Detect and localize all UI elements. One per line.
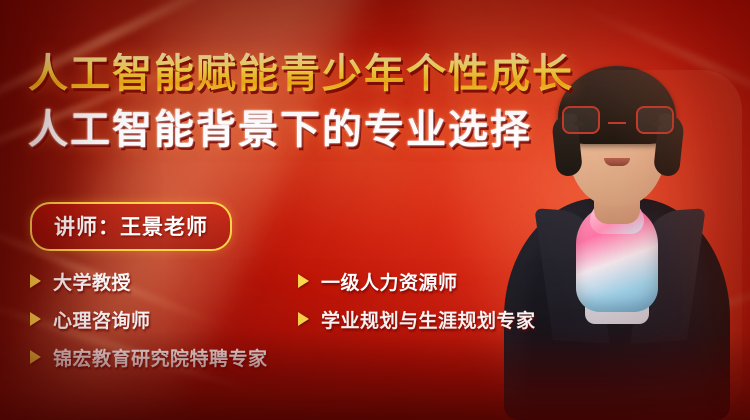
triangle-right-icon xyxy=(30,312,41,326)
headline-primary: 人工智能赋能青少年个性成长 xyxy=(28,52,588,96)
presenter-glasses-right-lens xyxy=(636,106,674,134)
triangle-right-icon xyxy=(30,274,41,288)
credential-label: 一级人力资源师 xyxy=(321,268,458,295)
credential-label: 心理咨询师 xyxy=(53,306,151,333)
credential-label: 大学教授 xyxy=(53,268,131,295)
presenter-glasses-bridge xyxy=(608,122,626,124)
credential-label: 学业规划与生涯规划专家 xyxy=(321,306,536,333)
triangle-right-icon xyxy=(298,274,309,288)
triangle-right-icon xyxy=(298,312,309,326)
list-item: 一级人力资源师 xyxy=(298,262,536,300)
lecturer-badge: 讲师：王景老师 xyxy=(30,202,232,251)
credentials-column-right: 一级人力资源师 学业规划与生涯规划专家 xyxy=(298,262,536,338)
list-item: 大学教授 xyxy=(30,262,268,300)
bottom-shadow xyxy=(0,330,750,420)
headline-block: 人工智能赋能青少年个性成长 人工智能背景下的专业选择 xyxy=(28,52,588,152)
headline-secondary: 人工智能背景下的专业选择 xyxy=(28,108,588,152)
presenter-mouth xyxy=(604,158,630,166)
promo-banner: 人工智能赋能青少年个性成长 人工智能背景下的专业选择 讲师：王景老师 大学教授 … xyxy=(0,0,750,420)
